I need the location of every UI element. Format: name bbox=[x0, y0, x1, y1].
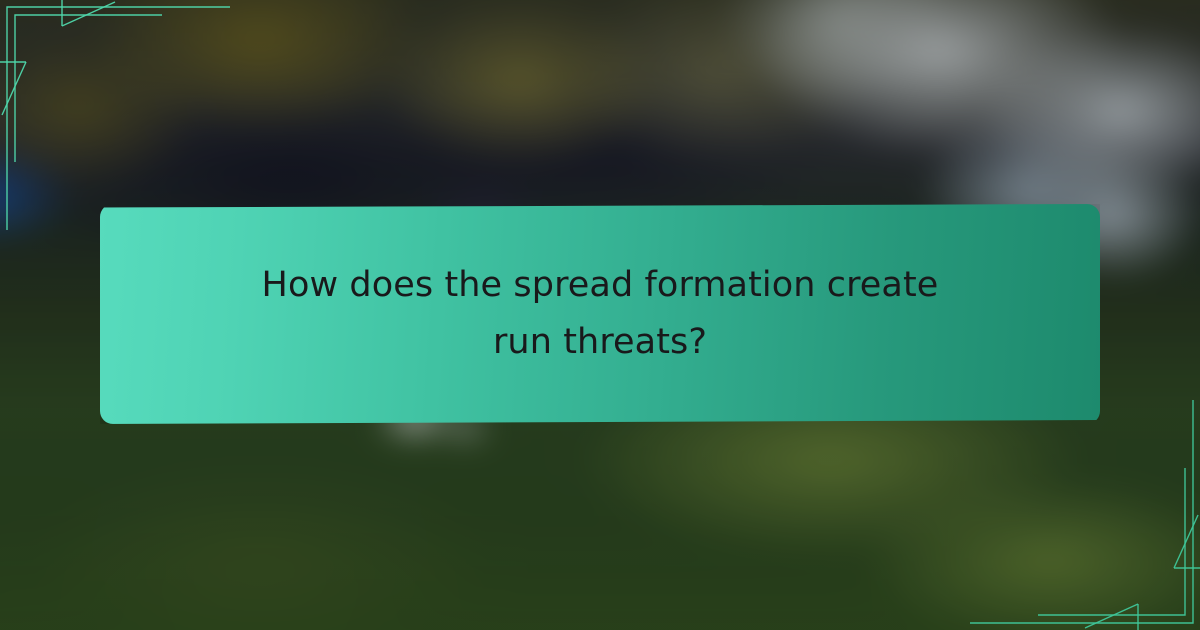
graphic-canvas: How does the spread formation create run… bbox=[0, 0, 1200, 630]
question-text: How does the spread formation create run… bbox=[230, 257, 970, 370]
question-card-content: How does the spread formation create run… bbox=[230, 257, 970, 370]
question-card: How does the spread formation create run… bbox=[100, 204, 1100, 424]
